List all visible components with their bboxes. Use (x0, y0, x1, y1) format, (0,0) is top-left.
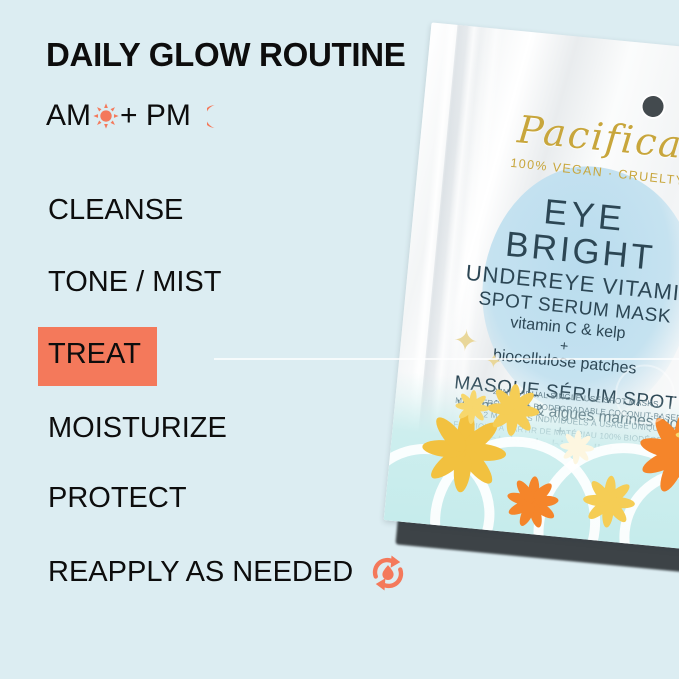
step-moisturize[interactable]: MOISTURIZE (46, 414, 227, 443)
step-treat-highlighted[interactable]: TREAT (38, 327, 157, 386)
step-cleanse[interactable]: CLEANSE (46, 196, 183, 225)
flower-icon (558, 429, 595, 466)
step-label: PROTECT (48, 482, 187, 514)
star-flower-icon (504, 474, 561, 531)
step-label: CLEANSE (48, 194, 183, 226)
flower-icon (453, 388, 490, 425)
product-sachet: Pacifica 100% VEGAN · CRUELTY-FR EYE BRI… (384, 22, 679, 548)
refresh-droplet-icon (367, 552, 409, 594)
flower-icon (580, 473, 637, 530)
schedule-pm-label: + PM (120, 101, 191, 131)
product-package-image: Pacifica 100% VEGAN · CRUELTY-FR EYE BRI… (363, 9, 679, 579)
schedule-am-label: AM (46, 101, 91, 131)
step-highlight-box: TREAT (38, 327, 157, 386)
step-reapply-as-needed[interactable]: REAPPLY AS NEEDED (46, 551, 409, 593)
page-title: DAILY GLOW ROUTINE (46, 36, 405, 74)
flower-icon (484, 382, 541, 439)
step-tone-mist[interactable]: TONE / MIST (46, 268, 221, 297)
hang-hole-icon (642, 95, 665, 118)
step-label: MOISTURIZE (48, 412, 227, 444)
sun-icon (93, 103, 119, 129)
step-label: TONE / MIST (48, 266, 221, 298)
sparkle-icon: ✦ (484, 351, 503, 373)
step-label: TREAT (48, 338, 141, 370)
sparkle-icon: ✦ (452, 326, 480, 358)
step-label: REAPPLY AS NEEDED (48, 558, 353, 587)
crescent-moon-icon (207, 103, 234, 130)
schedule-row: AM + PM (46, 101, 234, 131)
poster-canvas: DAILY GLOW ROUTINE AM + PM (0, 0, 679, 679)
step-protect[interactable]: PROTECT (46, 484, 187, 513)
treat-divider-line (214, 358, 679, 360)
